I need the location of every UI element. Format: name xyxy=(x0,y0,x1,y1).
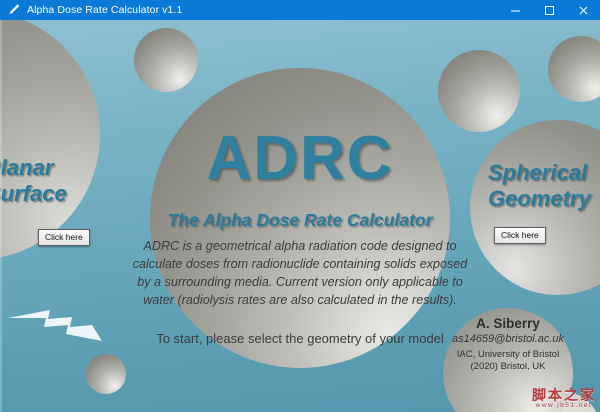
author-info: A. Siberry as14659@bristol.ac.uk IAC, Un… xyxy=(443,316,573,374)
minimize-button[interactable] xyxy=(498,0,532,20)
planar-surface-sphere[interactable] xyxy=(0,20,100,260)
start-instruction: To start, please select the geometry of … xyxy=(150,330,450,349)
spherical-geometry-label: Spherical Geometry xyxy=(488,160,591,212)
window-title: Alpha Dose Rate Calculator v1.1 xyxy=(27,4,498,16)
spherical-geometry-label-line1: Spherical xyxy=(488,160,591,186)
main-content-area: Planar Surface Click here Spherical Geom… xyxy=(0,20,600,412)
maximize-icon xyxy=(544,5,555,16)
author-location: (2020) Bristol, UK xyxy=(443,361,573,373)
spherical-geometry-click-here-button[interactable]: Click here xyxy=(494,227,546,244)
minimize-icon xyxy=(510,5,521,16)
decorative-sphere xyxy=(438,50,520,132)
close-button[interactable] xyxy=(566,0,600,20)
app-logo-title: ADRC xyxy=(150,128,450,190)
maximize-button[interactable] xyxy=(532,0,566,20)
decorative-sphere xyxy=(86,354,126,394)
planar-surface-label-line1: Planar xyxy=(0,155,67,181)
app-pencil-icon xyxy=(6,2,22,18)
planar-surface-click-here-button[interactable]: Click here xyxy=(38,229,90,246)
planar-surface-label: Planar Surface xyxy=(0,155,67,207)
author-email[interactable]: as14659@bristol.ac.uk xyxy=(443,333,573,345)
app-subtitle: The Alpha Dose Rate Calculator xyxy=(130,210,470,231)
decorative-sphere xyxy=(134,28,198,92)
spherical-geometry-label-line2: Geometry xyxy=(488,186,591,212)
decorative-sphere xyxy=(548,36,600,102)
author-affiliation: IAC, University of Bristol xyxy=(443,349,573,361)
planar-surface-label-line2: Surface xyxy=(0,181,67,207)
application-window: Alpha Dose Rate Calculator v1.1 xyxy=(0,0,600,412)
window-titlebar[interactable]: Alpha Dose Rate Calculator v1.1 xyxy=(0,0,600,20)
lightning-bolt-icon xyxy=(6,300,110,352)
close-icon xyxy=(578,5,589,16)
author-name: A. Siberry xyxy=(443,316,573,331)
app-description: ADRC is a geometrical alpha radiation co… xyxy=(125,238,475,310)
